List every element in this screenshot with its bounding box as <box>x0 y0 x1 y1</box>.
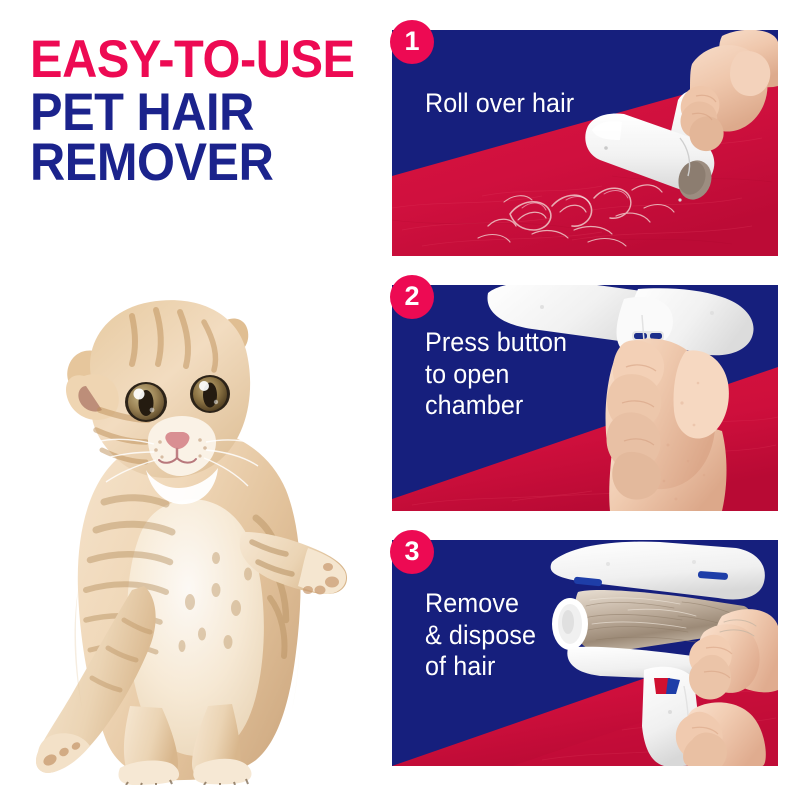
step-1-image <box>392 30 778 256</box>
cat-illustration <box>20 290 350 785</box>
headline-line-1: EASY-TO-USE <box>30 36 352 85</box>
step-badge-3: 3 <box>390 530 434 574</box>
step-1-caption: Roll over hair <box>425 88 574 120</box>
step-card-2: Press button to open chamber <box>392 285 778 511</box>
step-card-3: Remove & dispose of hair <box>392 540 778 766</box>
hand-2 <box>606 338 729 511</box>
cat-photo <box>20 290 350 785</box>
cat-body <box>78 428 301 780</box>
infographic-canvas: EASY-TO-USE PET HAIR REMOVER <box>0 0 800 800</box>
page-title: EASY-TO-USE PET HAIR REMOVER <box>30 36 380 187</box>
step-badge-2: 2 <box>390 275 434 319</box>
headline-line-3: REMOVER <box>30 139 352 188</box>
step-2-caption: Press button to open chamber <box>425 327 567 422</box>
step-3-caption: Remove & dispose of hair <box>425 588 536 683</box>
step-badge-1: 1 <box>390 20 434 64</box>
headline-line-2: PET HAIR <box>30 89 352 138</box>
step-card-1: Roll over hair <box>392 30 778 256</box>
